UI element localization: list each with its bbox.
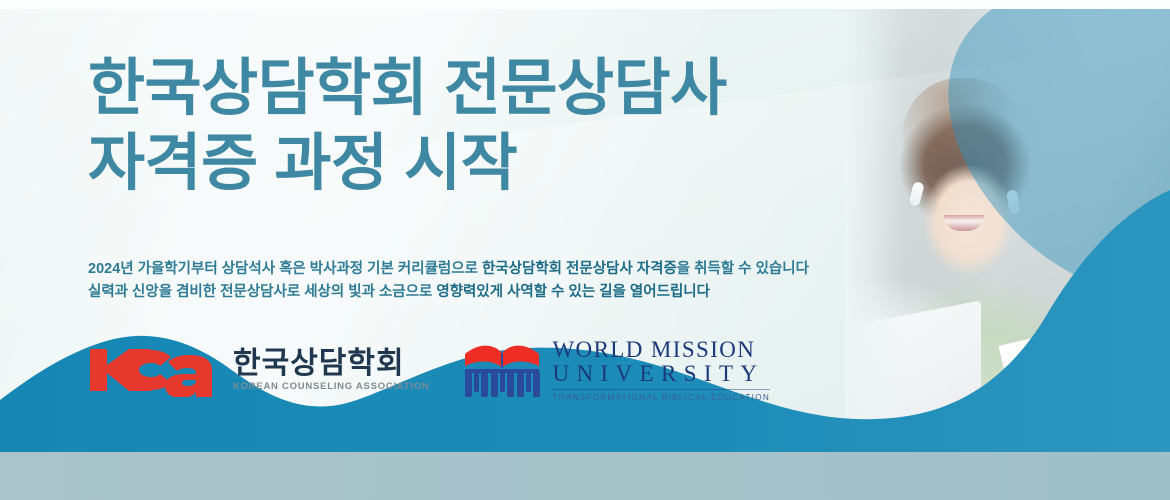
wmu-name-line-1: WORLD MISSION: [552, 338, 770, 362]
subcopy: 2024년 가을학기부터 상담석사 혹은 박사과정 기본 커리큘럼으로 한국상담…: [88, 258, 809, 305]
headline: 한국상담학회 전문상담사 자격증 과정 시작: [88, 56, 727, 198]
promo-banner: 한국상담학회 전문상담사 자격증 과정 시작 2024년 가을학기부터 상담석사…: [0, 0, 1170, 500]
kca-english-name: KOREAN COUNSELING ASSOCIATION: [233, 382, 429, 392]
wmu-open-book-icon: [463, 340, 541, 400]
kca-korean-name: 한국상담학회: [233, 349, 429, 379]
logo-row: 한국상담학회 KOREAN COUNSELING ASSOCIATION: [88, 338, 770, 402]
subcopy-line-2: 실력과 신앙을 겸비한 전문상담사로 세상의 빛과 소금으로 영향력있게 사역할…: [88, 281, 809, 304]
subcopy-line-1-lead: 2024년 가을학기부터 상담석사 혹은 박사과정 기본 커리큘럼으로: [88, 261, 482, 277]
wmu-logo: WORLD MISSION UNIVERSITY TRANSFORMATIONA…: [463, 338, 770, 402]
subcopy-line-2-emphasis: 영향력있게 사역할 수 있는 길을 열어드립니다: [436, 284, 710, 300]
subcopy-line-1-emphasis: 한국상담학회 전문상담사 자격증: [482, 261, 677, 277]
headline-line-1: 한국상담학회 전문상담사: [88, 56, 727, 123]
subcopy-line-2-lead: 실력과 신앙을 겸비한 전문상담사로 세상의 빛과 소금으로: [88, 284, 436, 300]
subcopy-line-1: 2024년 가을학기부터 상담석사 혹은 박사과정 기본 커리큘럼으로 한국상담…: [88, 258, 809, 281]
wmu-text-block: WORLD MISSION UNIVERSITY TRANSFORMATIONA…: [552, 338, 770, 402]
subcopy-line-1-tail: 을 취득할 수 있습니다: [677, 261, 809, 277]
wmu-tagline: TRANSFORMATIONAL BIBLICAL EDUCATION: [552, 389, 770, 402]
kca-text-block: 한국상담학회 KOREAN COUNSELING ASSOCIATION: [233, 349, 429, 392]
kca-logo: 한국상담학회 KOREAN COUNSELING ASSOCIATION: [88, 343, 429, 397]
kca-monogram-icon: [88, 343, 220, 397]
wmu-name-line-2: UNIVERSITY: [552, 362, 770, 386]
banner-content: 한국상담학회 전문상담사 자격증 과정 시작 2024년 가을학기부터 상담석사…: [0, 0, 1170, 500]
headline-line-2: 자격증 과정 시작: [88, 131, 727, 198]
